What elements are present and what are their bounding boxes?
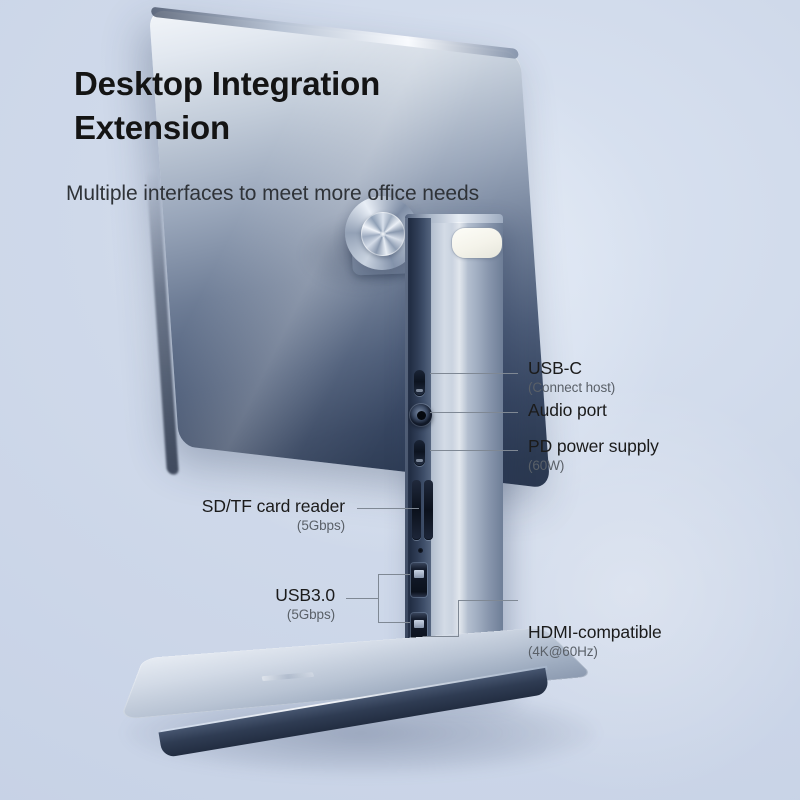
page-subtitle: Multiple interfaces to meet more office …	[66, 182, 479, 206]
leader-bracket-usb3-arm-top	[378, 574, 410, 575]
callout-hdmi-sub: (4K@60Hz)	[528, 644, 662, 659]
port-usb-c-top	[414, 370, 425, 396]
callout-usb3-title: USB3.0	[275, 585, 335, 605]
callout-usb3-sub: (5Gbps)	[95, 607, 335, 622]
port-sd-slot	[412, 480, 421, 540]
product-marketing-image: Desktop Integration Extension Multiple i…	[0, 0, 800, 800]
callout-pd-power: PD power supply (60W)	[528, 436, 659, 473]
callout-audio-port-title: Audio port	[528, 400, 607, 420]
callout-hdmi-title: HDMI-compatible	[528, 622, 662, 642]
callout-sd-tf-title: SD/TF card reader	[202, 496, 345, 516]
callout-hdmi: HDMI-compatible (4K@60Hz)	[528, 622, 662, 659]
port-tf-slot	[424, 480, 433, 540]
callout-sd-tf-sub: (5Gbps)	[105, 518, 345, 533]
port-usb-a-1	[411, 563, 427, 597]
callout-usb3: USB3.0 (5Gbps)	[95, 585, 335, 622]
leader-line-sd-tf	[357, 508, 419, 509]
page-title: Desktop Integration Extension	[74, 62, 544, 150]
leader-line-usb-c	[430, 373, 518, 374]
callout-usb-c-sub: (Connect host)	[528, 380, 615, 395]
callout-usb-c-title: USB-C	[528, 358, 582, 378]
leader-line-pd-power	[430, 450, 518, 451]
callout-usb-c: USB-C (Connect host)	[528, 358, 615, 395]
callout-sd-tf-card-reader: SD/TF card reader (5Gbps)	[105, 496, 345, 533]
reset-pinhole	[418, 548, 423, 553]
leader-line-hdmi-riser	[458, 600, 459, 636]
port-usb-c-pd	[414, 440, 425, 466]
leader-line-usb3	[346, 598, 379, 599]
callout-pd-power-sub: (60W)	[528, 458, 659, 473]
port-audio-jack	[410, 404, 432, 426]
callout-audio-port: Audio port	[528, 400, 607, 421]
leader-line-hdmi-stub	[426, 636, 459, 637]
callout-pd-power-title: PD power supply	[528, 436, 659, 456]
port-strip	[405, 218, 431, 688]
stand-column-badge	[452, 228, 502, 258]
hinge-disc	[361, 212, 405, 256]
leader-bracket-usb3-arm-bottom	[378, 622, 410, 623]
leader-line-hdmi	[458, 600, 518, 601]
leader-line-audio-port	[430, 412, 518, 413]
